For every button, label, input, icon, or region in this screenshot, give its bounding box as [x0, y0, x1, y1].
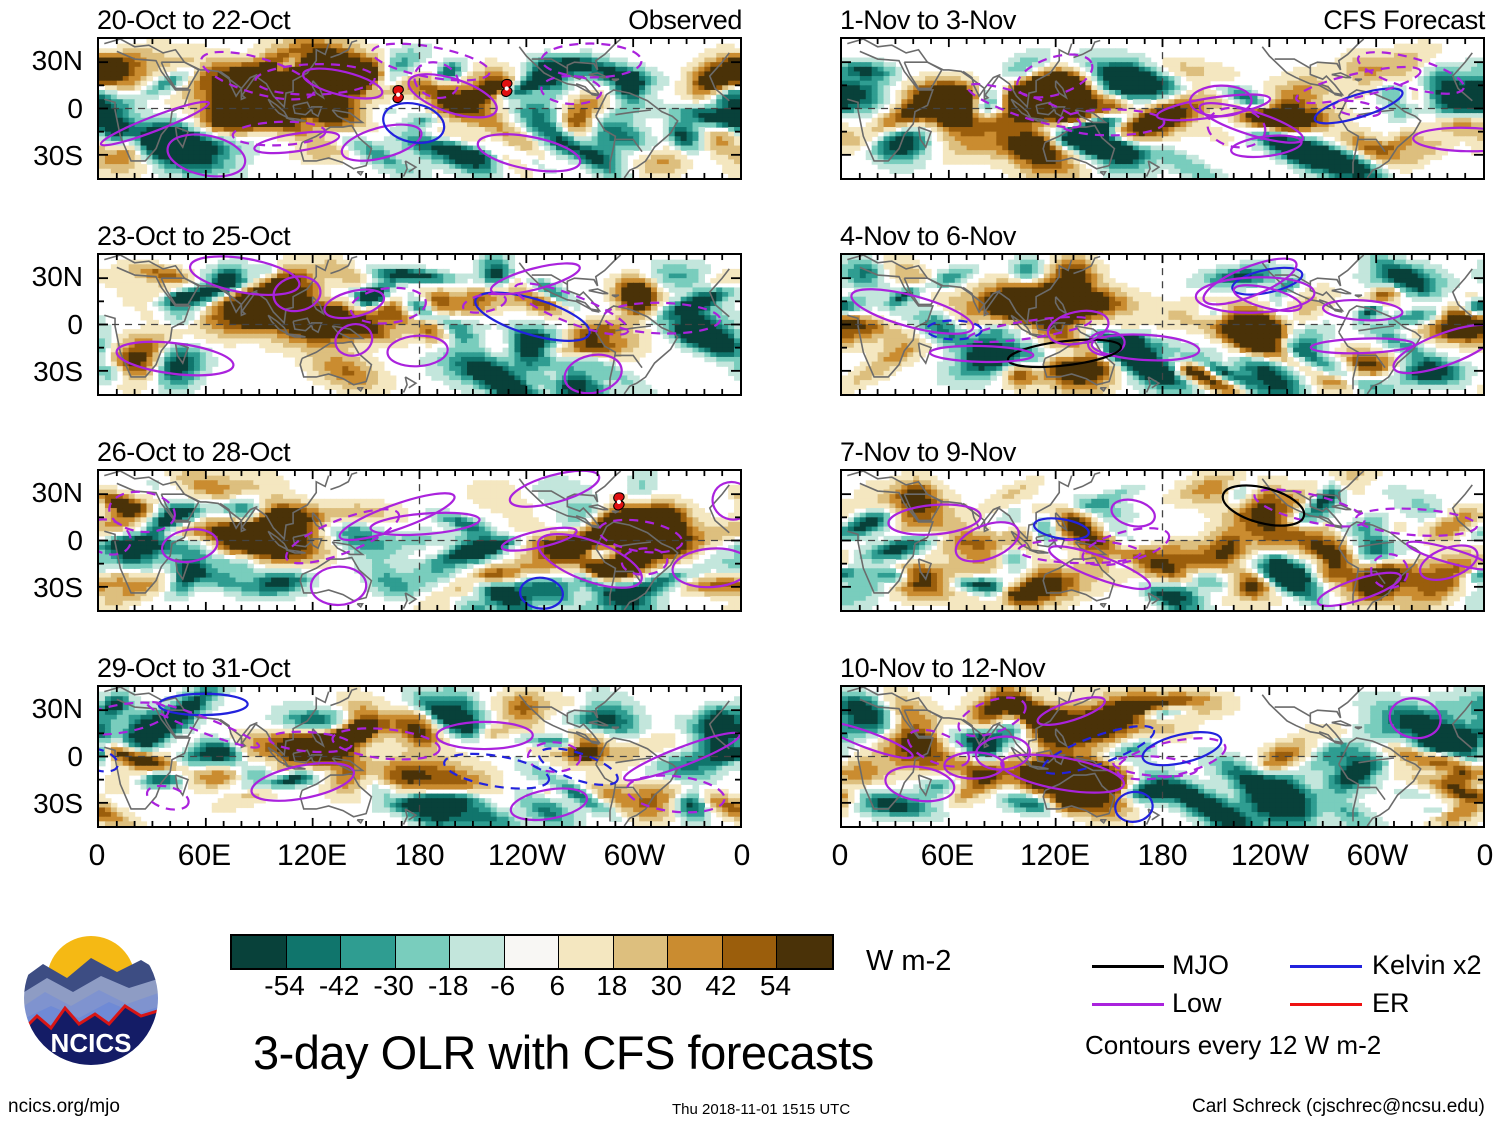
ncics-logo[interactable]: NCICS — [21, 928, 161, 1068]
map-plot-area — [97, 469, 742, 612]
map-plot-area — [840, 253, 1485, 396]
x-axis-tick-label: 60W — [1318, 841, 1438, 871]
x-axis-tick-label: 60E — [888, 841, 1008, 871]
colorbar-segment — [396, 936, 451, 968]
footer-left[interactable]: ncics.org/mjo — [8, 1097, 120, 1116]
panel-title: 20-Oct to 22-Oct — [97, 7, 290, 34]
x-axis-tick-label: 120W — [467, 841, 587, 871]
x-axis-tick-label: 0 — [780, 841, 900, 871]
panel-title: 29-Oct to 31-Oct — [97, 655, 290, 682]
x-axis-tick-label: 180 — [1103, 841, 1223, 871]
legend-swatch-low — [1092, 1003, 1164, 1006]
colorbar-tick-label: 54 — [735, 972, 815, 1000]
legend-swatch-er — [1290, 1003, 1362, 1006]
colorbar-segment — [450, 936, 505, 968]
x-axis-tick-label: 120E — [995, 841, 1115, 871]
map-plot-area — [97, 685, 742, 828]
forecast-header: CFS Forecast — [1185, 7, 1485, 34]
y-axis-tick-label: 30N — [0, 47, 83, 75]
x-axis-tick-label: 0 — [1425, 841, 1510, 871]
cyclone-markers — [614, 493, 624, 510]
y-axis-tick-label: 30S — [0, 142, 83, 170]
x-axis-tick-label: 180 — [360, 841, 480, 871]
y-axis-tick-label: 30N — [0, 479, 83, 507]
panel-title: 7-Nov to 9-Nov — [840, 439, 1016, 466]
colorbar-segment — [341, 936, 396, 968]
footer-timestamp: Thu 2018-11-01 1515 UTC — [672, 1100, 850, 1119]
colorbar-segment — [505, 936, 560, 968]
observed-header: Observed — [442, 7, 742, 34]
colorbar-segment — [777, 936, 832, 968]
cyclone-symbol — [393, 86, 403, 103]
legend-label: MJO — [1172, 952, 1229, 979]
y-axis-tick-label: 30N — [0, 263, 83, 291]
map-plot-area — [97, 37, 742, 180]
x-axis-tick-label: 120W — [1210, 841, 1330, 871]
colorbar-segment — [287, 936, 342, 968]
footer-right: Carl Schreck (cjschrec@ncsu.edu) — [1192, 1097, 1485, 1116]
panel-title: 23-Oct to 25-Oct — [97, 223, 290, 250]
colorbar-segment — [232, 936, 287, 968]
map-plot-area — [840, 37, 1485, 180]
legend-label: Low — [1172, 990, 1222, 1017]
map-plot-area — [840, 685, 1485, 828]
x-axis-tick-label: 120E — [252, 841, 372, 871]
legend-swatch-kelvin-x2 — [1290, 965, 1362, 968]
panel-title: 4-Nov to 6-Nov — [840, 223, 1016, 250]
y-axis-tick-label: 0 — [0, 311, 83, 339]
y-axis-tick-label: 30S — [0, 790, 83, 818]
y-axis-tick-label: 30S — [0, 358, 83, 386]
contour-interval-note: Contours every 12 W m-2 — [1085, 1032, 1381, 1058]
legend-swatch-mjo — [1092, 965, 1164, 968]
y-axis-tick-label: 0 — [0, 95, 83, 123]
y-axis-tick-label: 0 — [0, 527, 83, 555]
legend-label: Kelvin x2 — [1372, 952, 1482, 979]
cyclone-symbol — [502, 79, 512, 96]
colorbar-units-label: W m-2 — [866, 947, 951, 976]
x-axis-tick-label: 0 — [37, 841, 157, 871]
colorbar-segment — [668, 936, 723, 968]
y-axis-tick-label: 30S — [0, 574, 83, 602]
colorbar-segment — [723, 936, 778, 968]
map-plot-area — [97, 253, 742, 396]
panel-title: 10-Nov to 12-Nov — [840, 655, 1045, 682]
ncics-logo-text: NCICS — [51, 1028, 132, 1058]
panel-title: 1-Nov to 3-Nov — [840, 7, 1016, 34]
x-axis-tick-label: 60W — [575, 841, 695, 871]
colorbar-segment — [614, 936, 669, 968]
main-title: 3-day OLR with CFS forecasts — [253, 1029, 874, 1076]
cyclone-symbol — [614, 493, 624, 510]
y-axis-tick-label: 0 — [0, 743, 83, 771]
legend-label: ER — [1372, 990, 1410, 1017]
panel-title: 26-Oct to 28-Oct — [97, 439, 290, 466]
map-plot-area — [840, 469, 1485, 612]
x-axis-tick-label: 60E — [145, 841, 265, 871]
colorbar — [230, 934, 834, 970]
y-axis-tick-label: 30N — [0, 695, 83, 723]
ncics-logo-graphic: NCICS — [21, 928, 161, 1068]
colorbar-segment — [559, 936, 614, 968]
